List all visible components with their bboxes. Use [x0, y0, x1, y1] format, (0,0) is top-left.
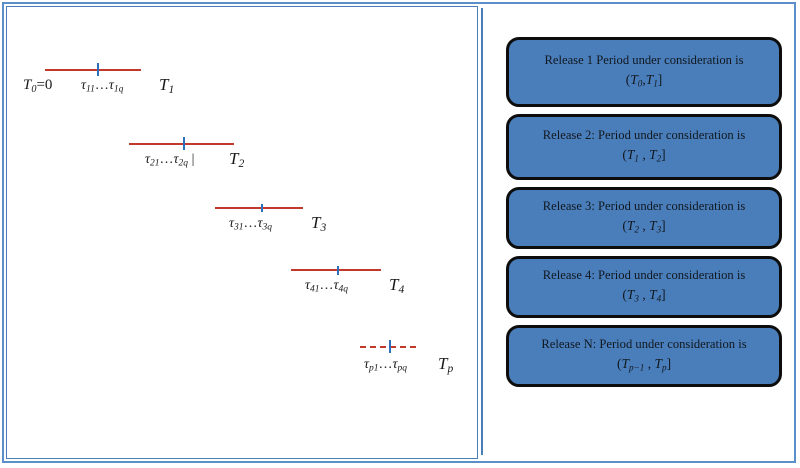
timeline-end-label-5: Tp — [438, 354, 453, 375]
release-box-5-interval: (Tp−1 , Tp] — [617, 355, 671, 375]
timeline-end-label-2: T2 — [229, 149, 244, 170]
release-box-4[interactable]: Release 4: Period under consideration is… — [506, 256, 782, 318]
release-box-1-interval: (T0,T1] — [626, 71, 663, 91]
timeline-segment-1 — [45, 69, 141, 71]
timeline-tick-1 — [97, 63, 99, 76]
release-box-3[interactable]: Release 3: Period under consideration is… — [506, 187, 782, 249]
timeline-end-label-4: T4 — [389, 275, 404, 296]
timeline-tau-label-1: τ11…τ1q — [81, 78, 123, 95]
timeline-tau-label-2: τ21…τ2q | — [145, 152, 194, 169]
timeline-end-label-1: T1 — [159, 75, 174, 96]
release-box-2-title: Release 2: Period under consideration is — [543, 128, 746, 144]
timeline-segment-3 — [215, 207, 303, 209]
release-box-2[interactable]: Release 2: Period under consideration is… — [506, 114, 782, 180]
release-box-4-title: Release 4: Period under consideration is — [543, 268, 746, 284]
release-box-5-title: Release N: Period under consideration is — [541, 337, 746, 353]
timeline-tick-2 — [183, 137, 185, 150]
release-box-1[interactable]: Release 1 Period under consideration is … — [506, 37, 782, 107]
timeline-segment-2 — [129, 143, 234, 145]
release-box-1-title: Release 1 Period under consideration is — [545, 53, 744, 69]
timeline-tick-5 — [389, 340, 391, 353]
timeline-tick-4 — [337, 266, 339, 275]
panel-divider — [481, 8, 483, 455]
timeline-segment-4 — [291, 269, 381, 271]
release-box-3-interval: (T2 , T3] — [622, 217, 665, 237]
release-box-3-title: Release 3: Period under consideration is — [543, 199, 746, 215]
timeline-end-label-3: T3 — [311, 213, 326, 234]
timeline-segment-5 — [360, 346, 416, 348]
release-box-5[interactable]: Release N: Period under consideration is… — [506, 325, 782, 387]
figure-root: T0=0 τ11…τ1q T1 τ21…τ2q | T2 τ — [0, 0, 800, 468]
release-periods-panel: Release 1 Period under consideration is … — [496, 6, 794, 459]
timeline-tau-label-5: τp1…τpq — [364, 357, 407, 374]
release-box-2-interval: (T1 , T2] — [622, 146, 665, 166]
timeline-panel: T0=0 τ11…τ1q T1 τ21…τ2q | T2 τ — [6, 6, 478, 459]
release-box-4-interval: (T3 , T4] — [622, 286, 665, 306]
timeline-tau-label-3: τ31…τ3q — [229, 216, 272, 233]
timeline-tick-3 — [261, 204, 263, 212]
timeline-start-label-1: T0=0 — [23, 77, 52, 95]
timeline-tau-label-4: τ41…τ4q — [305, 278, 348, 295]
